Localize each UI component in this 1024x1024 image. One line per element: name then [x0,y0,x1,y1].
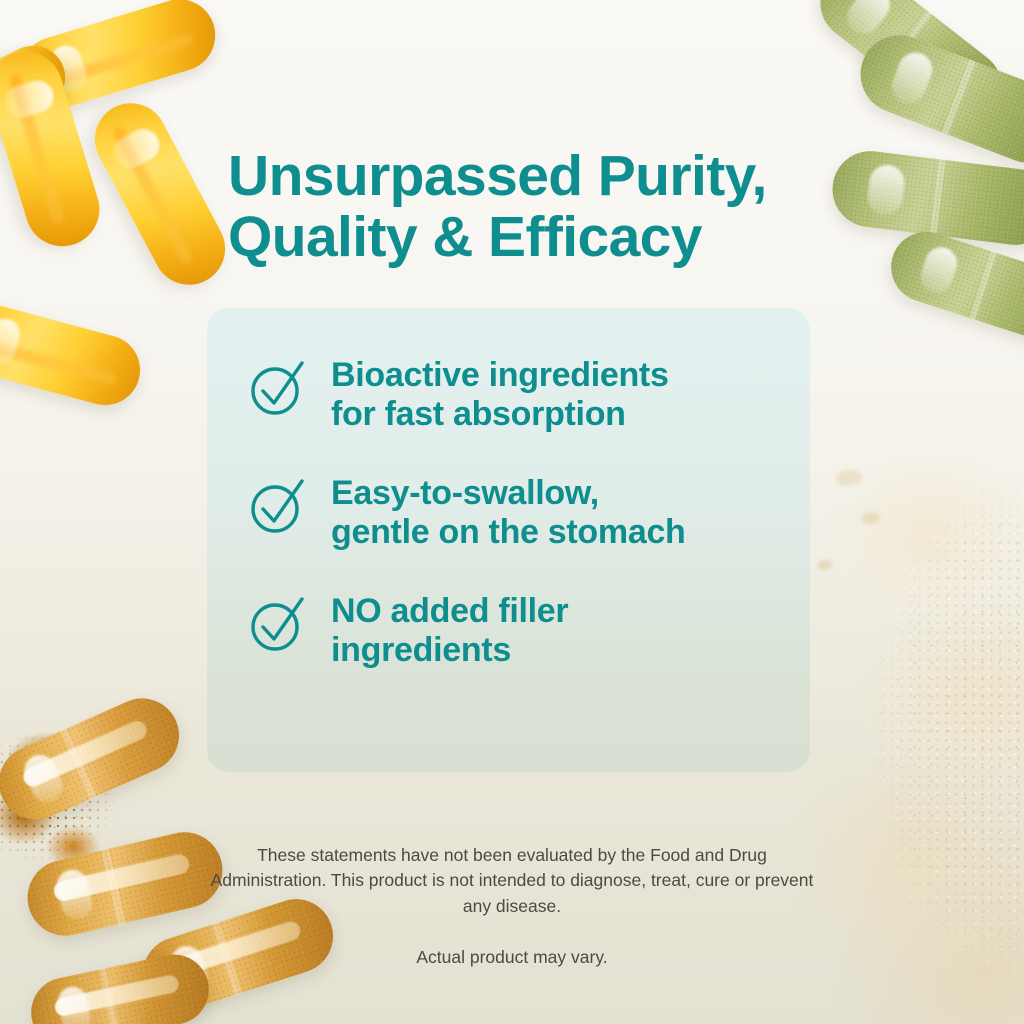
benefit-item-1: Bioactive ingredients for fast absorptio… [245,354,786,435]
capsule-powder-texture [0,687,191,832]
benefit-item-2-line-2: gentle on the stomach [331,513,686,552]
turmeric-capsule-4 [25,948,216,1024]
softgel-capsule-top-left-2 [0,35,76,145]
headline-line-1: Unsurpassed Purity, [228,146,828,206]
benefit-list: Bioactive ingredients for fast absorptio… [245,354,786,671]
benefit-item-3-line-1: NO added filler [331,592,568,631]
spice-grain-texture [0,718,175,883]
benefit-item-1-text: Bioactive ingredients for fast absorptio… [331,354,669,435]
headline-line-2: Quality & Efficacy [228,207,828,267]
capsule-highlight [53,973,180,1017]
green-capsule-top-right-4 [882,223,1024,351]
green-capsule-top-right-2 [849,24,1024,174]
benefit-item-2: Easy-to-swallow, gentle on the stomach [245,472,786,553]
capsule-powder-texture [805,0,1016,139]
capsule-powder-texture [20,825,230,944]
benefit-item-3-line-2: ingredients [331,631,568,670]
benefit-item-1-line-1: Bioactive ingredients [331,356,669,395]
circle-check-icon [245,474,309,538]
softgel-capsule-top-left-4 [82,91,238,298]
circle-check-icon [245,592,309,656]
benefit-item-2-text: Easy-to-swallow, gentle on the stomach [331,472,686,553]
turmeric-powder-spill [0,718,175,883]
benefit-item-1-line-2: for fast absorption [331,395,669,434]
powder-speck-3 [818,560,832,570]
capsule-powder-texture [882,223,1024,351]
softgel-capsule-top-left-1 [12,0,224,118]
softgel-capsule-top-left-3 [0,43,109,256]
product-variance-note: Actual product may vary. [202,945,822,970]
powder-speck-2 [862,512,880,524]
benefit-item-3-text: NO added filler ingredients [331,590,568,671]
benefit-item-3: NO added filler ingredients [245,590,786,671]
marketing-graphic: Unsurpassed Purity, Quality & Efficacy B… [0,0,1024,1024]
circle-check-icon [245,356,309,420]
capsule-powder-texture [828,147,1024,249]
capsule-powder-texture [25,948,216,1024]
benefit-item-2-line-1: Easy-to-swallow, [331,474,686,513]
capsule-powder-texture [849,24,1024,174]
turmeric-capsule-1 [0,687,191,832]
softgel-capsule-top-left-5 [0,297,148,413]
green-capsule-top-right-3 [828,147,1024,249]
green-capsule-top-right-1 [805,0,1016,139]
powder-speck-1 [836,470,862,486]
fda-disclaimer-text: These statements have not been evaluated… [202,843,822,919]
disclaimer: These statements have not been evaluated… [202,843,822,971]
page-title: Unsurpassed Purity, Quality & Efficacy [228,146,828,267]
capsule-highlight [20,718,149,790]
benefits-card: Bioactive ingredients for fast absorptio… [207,308,810,772]
capsule-highlight [52,853,191,903]
turmeric-capsule-2 [20,825,230,944]
